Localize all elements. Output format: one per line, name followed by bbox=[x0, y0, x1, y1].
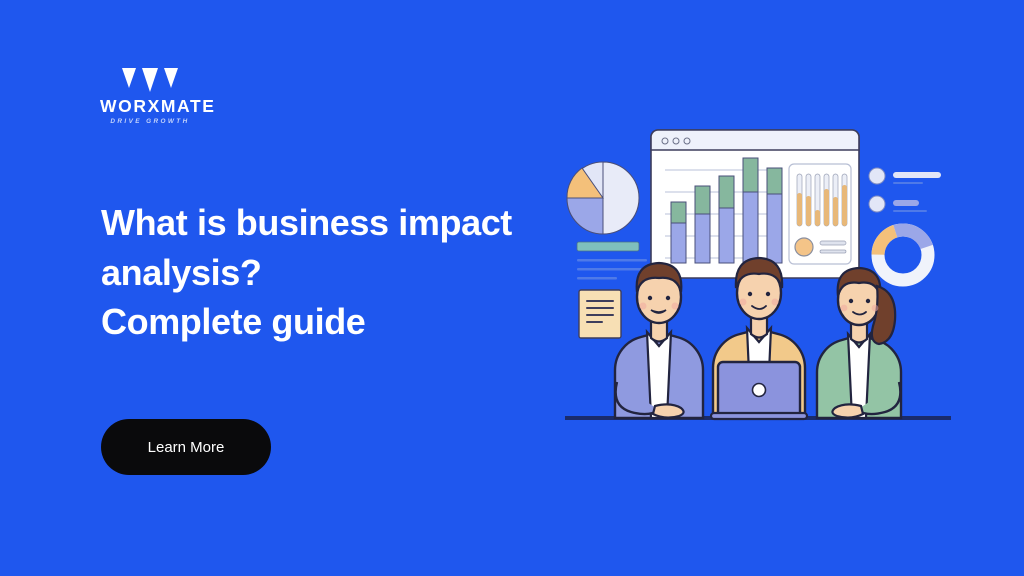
browser-window-graphic bbox=[651, 130, 859, 278]
laptop-graphic bbox=[711, 362, 807, 419]
page-title: What is business impact analysis? Comple… bbox=[101, 198, 571, 347]
slider-panel-graphic bbox=[789, 164, 851, 264]
headline-line-2: analysis? bbox=[101, 248, 571, 298]
illustration-svg bbox=[555, 120, 955, 470]
marketing-banner: WORXMATE DRIVE GROWTH What is business i… bbox=[0, 0, 1024, 576]
legend-rows-graphic bbox=[869, 168, 941, 212]
brand-tagline: DRIVE GROWTH bbox=[100, 119, 200, 125]
headline-line-1: What is business impact bbox=[101, 202, 512, 243]
person-left bbox=[615, 263, 703, 418]
person-center bbox=[711, 258, 807, 419]
brand-name: WORXMATE bbox=[100, 98, 200, 116]
donut-chart-graphic bbox=[878, 230, 928, 280]
pie-chart-graphic bbox=[567, 162, 639, 234]
headline-line-3: Complete guide bbox=[101, 297, 571, 347]
learn-more-button[interactable]: Learn More bbox=[101, 419, 271, 475]
brand-logo[interactable]: WORXMATE DRIVE GROWTH bbox=[100, 66, 200, 125]
team-analytics-illustration bbox=[555, 120, 955, 470]
document-card-graphic bbox=[579, 290, 621, 338]
worxmate-w-droplets-icon bbox=[120, 66, 180, 96]
person-right bbox=[817, 268, 901, 418]
text-lines-block bbox=[577, 242, 647, 280]
